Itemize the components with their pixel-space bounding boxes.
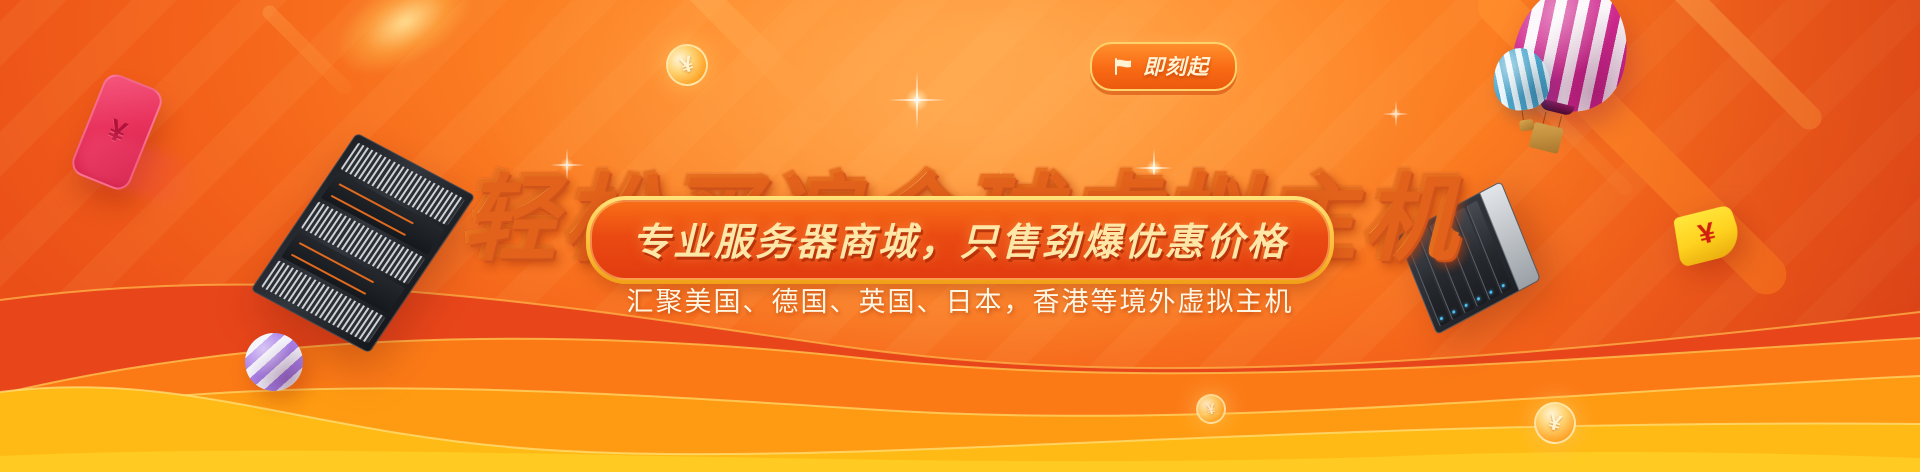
subtitle-pill-wrapper: 专业服务器商城，只售劲爆优惠价格 — [586, 196, 1334, 284]
flag-icon — [1114, 58, 1134, 75]
badge-label: 即刻起 — [1143, 51, 1209, 81]
subtitle-pill: 专业服务器商城，只售劲爆优惠价格 — [586, 196, 1334, 284]
subtitle-text: 专业服务器商城，只售劲爆优惠价格 — [632, 211, 1288, 266]
start-now-badge[interactable]: 即刻起 — [1090, 42, 1237, 91]
subtitle-pill-inner: 专业服务器商城，只售劲爆优惠价格 — [590, 200, 1330, 280]
banner-content: 即刻起 轻松买遍全球虚拟主机 专业服务器商城，只售劲爆优惠价格 汇聚美国、德国、… — [0, 0, 1920, 472]
start-now-badge-wrapper: 即刻起 — [1090, 42, 1237, 91]
tagline-text: 汇聚美国、德国、英国、日本，香港等境外虚拟主机 — [627, 280, 1294, 319]
promo-banner: ¥ — [0, 0, 1920, 472]
